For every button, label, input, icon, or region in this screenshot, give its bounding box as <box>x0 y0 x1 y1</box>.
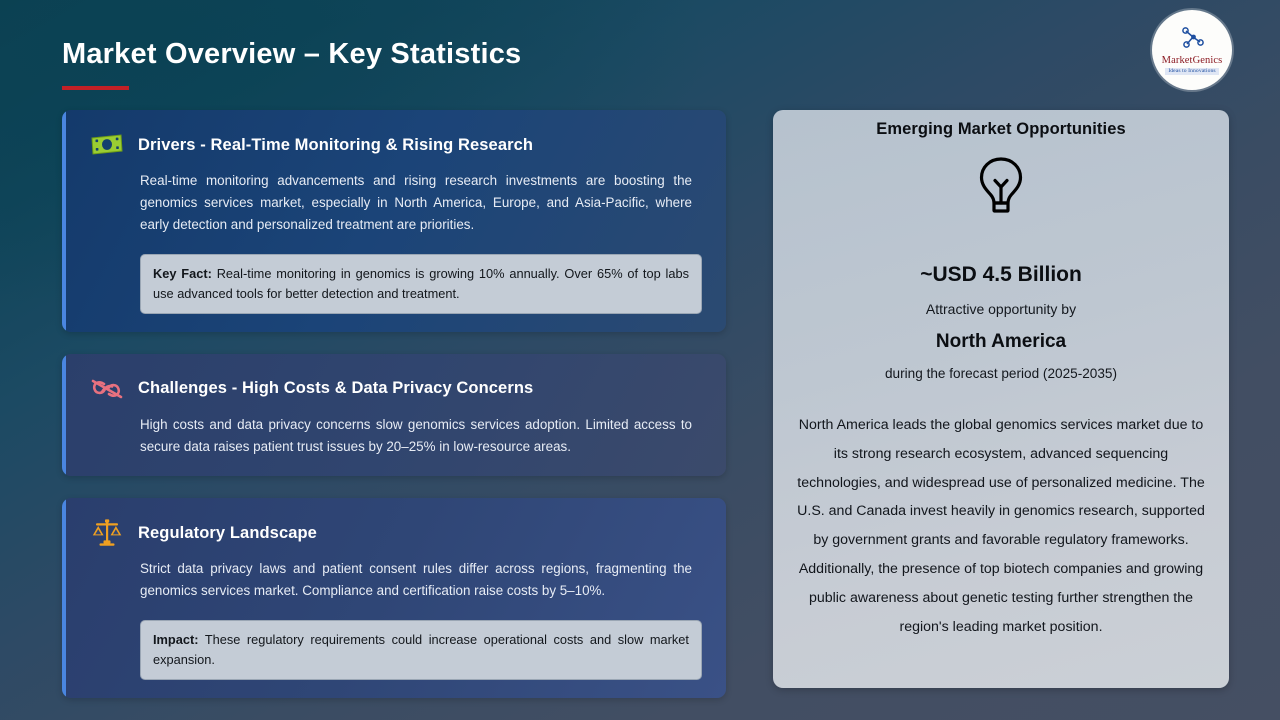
card-regulatory: Regulatory Landscape Strict data privacy… <box>62 498 726 698</box>
key-fact-callout: Key Fact: Real-time monitoring in genomi… <box>140 254 702 314</box>
panel-description: North America leads the global genomics … <box>791 411 1211 642</box>
molecule-node-icon <box>1179 27 1205 54</box>
brand-logo: MarketGenics Ideas to Innovations <box>1152 10 1232 90</box>
card-body-text: High costs and data privacy concerns slo… <box>90 414 702 458</box>
lightbulb-icon <box>791 155 1211 217</box>
card-header: Challenges - High Costs & Data Privacy C… <box>90 372 702 406</box>
market-value: ~USD 4.5 Billion <box>791 263 1211 287</box>
callout-label: Key Fact: <box>153 266 212 281</box>
card-title: Regulatory Landscape <box>138 524 317 543</box>
impact-callout: Impact: These regulatory requirements co… <box>140 620 702 680</box>
card-challenges: Challenges - High Costs & Data Privacy C… <box>62 354 726 476</box>
logo-brand-name: MarketGenics <box>1162 56 1223 67</box>
emerging-opportunities-panel: Emerging Market Opportunities ~USD 4.5 B… <box>773 110 1229 688</box>
money-banknote-icon <box>90 128 124 162</box>
title-accent-rule <box>62 86 129 90</box>
logo-tagline: Ideas to Innovations <box>1165 68 1218 75</box>
forecast-period: during the forecast period (2025-2035) <box>791 366 1211 381</box>
leading-region: North America <box>791 331 1211 353</box>
panel-title: Emerging Market Opportunities <box>791 120 1211 139</box>
card-drivers: Drivers - Real-Time Monitoring & Rising … <box>62 110 726 332</box>
card-title: Drivers - Real-Time Monitoring & Rising … <box>138 136 533 155</box>
card-header: Regulatory Landscape <box>90 516 702 550</box>
card-title: Challenges - High Costs & Data Privacy C… <box>138 379 533 398</box>
card-header: Drivers - Real-Time Monitoring & Rising … <box>90 128 702 162</box>
callout-label: Impact: <box>153 632 199 647</box>
scales-of-justice-icon <box>90 516 124 550</box>
card-body-text: Real-time monitoring advancements and ri… <box>90 170 702 236</box>
slide-root: Market Overview – Key Statistics MarketG… <box>0 0 1280 720</box>
callout-text: Real-time monitoring in genomics is grow… <box>153 266 689 301</box>
insight-card-list: Drivers - Real-Time Monitoring & Rising … <box>62 110 726 720</box>
callout-text: These regulatory requirements could incr… <box>153 632 689 667</box>
page-title: Market Overview – Key Statistics <box>62 38 521 71</box>
broken-link-icon <box>90 372 124 406</box>
card-body-text: Strict data privacy laws and patient con… <box>90 558 702 602</box>
opportunity-subtitle: Attractive opportunity by <box>791 301 1211 317</box>
